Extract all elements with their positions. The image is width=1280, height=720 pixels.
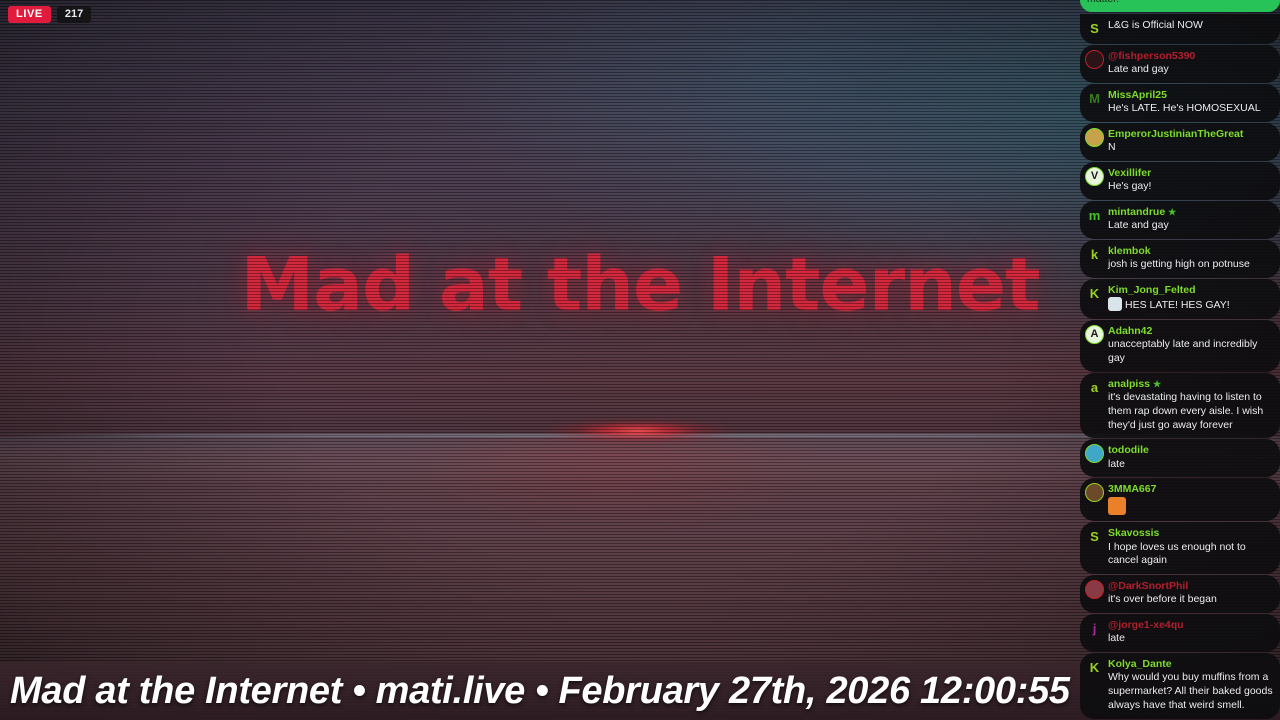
avatar: a xyxy=(1085,378,1104,397)
chat-message[interactable]: tododilelate xyxy=(1080,439,1280,477)
chat-message[interactable]: @fishperson5390Late and gay xyxy=(1080,45,1280,83)
chat-message[interactable]: 3MMA667 xyxy=(1080,478,1280,521)
chat-username[interactable]: mintandrue★ xyxy=(1108,206,1274,219)
chat-message-text: Late and gay xyxy=(1108,63,1274,77)
chat-username[interactable]: Skavossis xyxy=(1108,527,1274,540)
avatar: k xyxy=(1085,245,1104,264)
avatar: S xyxy=(1085,19,1104,38)
chat-message-text: Why would you buy muffins from a superma… xyxy=(1108,671,1274,713)
chat-username[interactable]: tododile xyxy=(1108,444,1274,457)
chat-message[interactable]: MMissApril25He's LATE. He's HOMOSEXUAL xyxy=(1080,84,1280,122)
chat-message-text: josh is getting high on potnuse xyxy=(1108,258,1274,272)
chat-message[interactable]: SL&G is Official NOW xyxy=(1080,14,1280,44)
avatar xyxy=(1085,580,1104,599)
chat-message-text: N xyxy=(1108,141,1274,155)
avatar: V xyxy=(1085,167,1104,186)
chat-username[interactable]: 3MMA667 xyxy=(1108,483,1274,496)
chat-message-text: He's gay! xyxy=(1108,180,1274,194)
chat-message[interactable]: aanalpiss★it's devastating having to lis… xyxy=(1080,373,1280,439)
chat-username[interactable]: Kim_Jong_Felted xyxy=(1108,284,1274,297)
chat-panel[interactable]: G@genjada19005.00 USDI heard you were bi… xyxy=(1080,0,1280,720)
chat-message-text xyxy=(1108,497,1274,515)
live-status-group: LIVE 217 xyxy=(8,6,91,23)
emote-icon xyxy=(1108,497,1126,515)
chat-username[interactable]: Vexillifer xyxy=(1108,167,1274,180)
chat-message[interactable]: KKim_Jong_FeltedHES LATE! HES GAY! xyxy=(1080,279,1280,319)
chat-message-text: it's over before it began xyxy=(1108,593,1274,607)
star-badge-icon: ★ xyxy=(1153,379,1161,390)
avatar: A xyxy=(1085,325,1104,344)
stream-title-text: Mad at the Internet • mati.live • Februa… xyxy=(0,670,1070,713)
avatar: K xyxy=(1085,284,1104,303)
chat-message-text: He's LATE. He's HOMOSEXUAL xyxy=(1108,102,1274,116)
chat-message[interactable]: SSkavossisI hope loves us enough not to … xyxy=(1080,522,1280,574)
chat-username[interactable]: klembok xyxy=(1108,245,1274,258)
chat-message[interactable]: AAdahn42unacceptably late and incredibly… xyxy=(1080,320,1280,372)
chat-message[interactable]: kklembokjosh is getting high on potnuse xyxy=(1080,240,1280,278)
chat-username[interactable]: @fishperson5390 xyxy=(1108,50,1274,63)
avatar xyxy=(1085,50,1104,69)
avatar: S xyxy=(1085,527,1104,546)
emote-icon xyxy=(1108,297,1122,311)
avatar: m xyxy=(1085,206,1104,225)
chat-message-text: it's devastating having to listen to the… xyxy=(1108,391,1274,433)
avatar: K xyxy=(1085,658,1104,677)
chat-message-text: late xyxy=(1108,458,1274,472)
chat-username[interactable]: @DarkSnortPhil xyxy=(1108,580,1274,593)
chat-message[interactable]: j@jorge1-xe4qulate xyxy=(1080,614,1280,652)
chat-username[interactable]: MissApril25 xyxy=(1108,89,1274,102)
viewer-count-badge: 217 xyxy=(57,6,91,23)
avatar xyxy=(1085,444,1104,463)
chat-message-text: L&G is Official NOW xyxy=(1108,19,1274,33)
avatar xyxy=(1085,128,1104,147)
chat-message-text: HES LATE! HES GAY! xyxy=(1108,297,1274,313)
chat-username[interactable]: Kolya_Dante xyxy=(1108,658,1274,671)
chat-message-text: late xyxy=(1108,632,1274,646)
chat-username[interactable]: EmperorJustinianTheGreat xyxy=(1108,128,1274,141)
avatar xyxy=(1085,483,1104,502)
chat-message[interactable]: VVexilliferHe's gay! xyxy=(1080,162,1280,200)
chat-message-text: Late and gay xyxy=(1108,219,1274,233)
live-badge: LIVE xyxy=(8,6,51,23)
chat-message[interactable]: @DarkSnortPhilit's over before it began xyxy=(1080,575,1280,613)
chat-message[interactable]: mmintandrue★Late and gay xyxy=(1080,201,1280,239)
chat-message[interactable]: KKolya_DanteWhy would you buy muffins fr… xyxy=(1080,653,1280,719)
chat-username[interactable]: Adahn42 xyxy=(1108,325,1274,338)
chat-message[interactable]: EmperorJustinianTheGreatN xyxy=(1080,123,1280,161)
star-badge-icon: ★ xyxy=(1168,207,1176,218)
stream-viewport: Mad at the Internet LIVE 217 Mad at the … xyxy=(0,0,1280,720)
avatar: M xyxy=(1085,89,1104,108)
chat-username[interactable]: analpiss★ xyxy=(1108,378,1274,391)
chat-username[interactable]: @jorge1-xe4qu xyxy=(1108,619,1274,632)
chat-donation-message[interactable]: G@genjada19005.00 USDI heard you were bi… xyxy=(1080,0,1280,12)
chat-message-list: G@genjada19005.00 USDI heard you were bi… xyxy=(1080,0,1280,720)
chat-message-text: unacceptably late and incredibly gay xyxy=(1108,338,1274,366)
chat-message-text: I hope loves us enough not to cancel aga… xyxy=(1108,541,1274,569)
donation-text: I heard you were big gh.ey and pozed. pe… xyxy=(1080,0,1280,12)
avatar: j xyxy=(1085,619,1104,638)
